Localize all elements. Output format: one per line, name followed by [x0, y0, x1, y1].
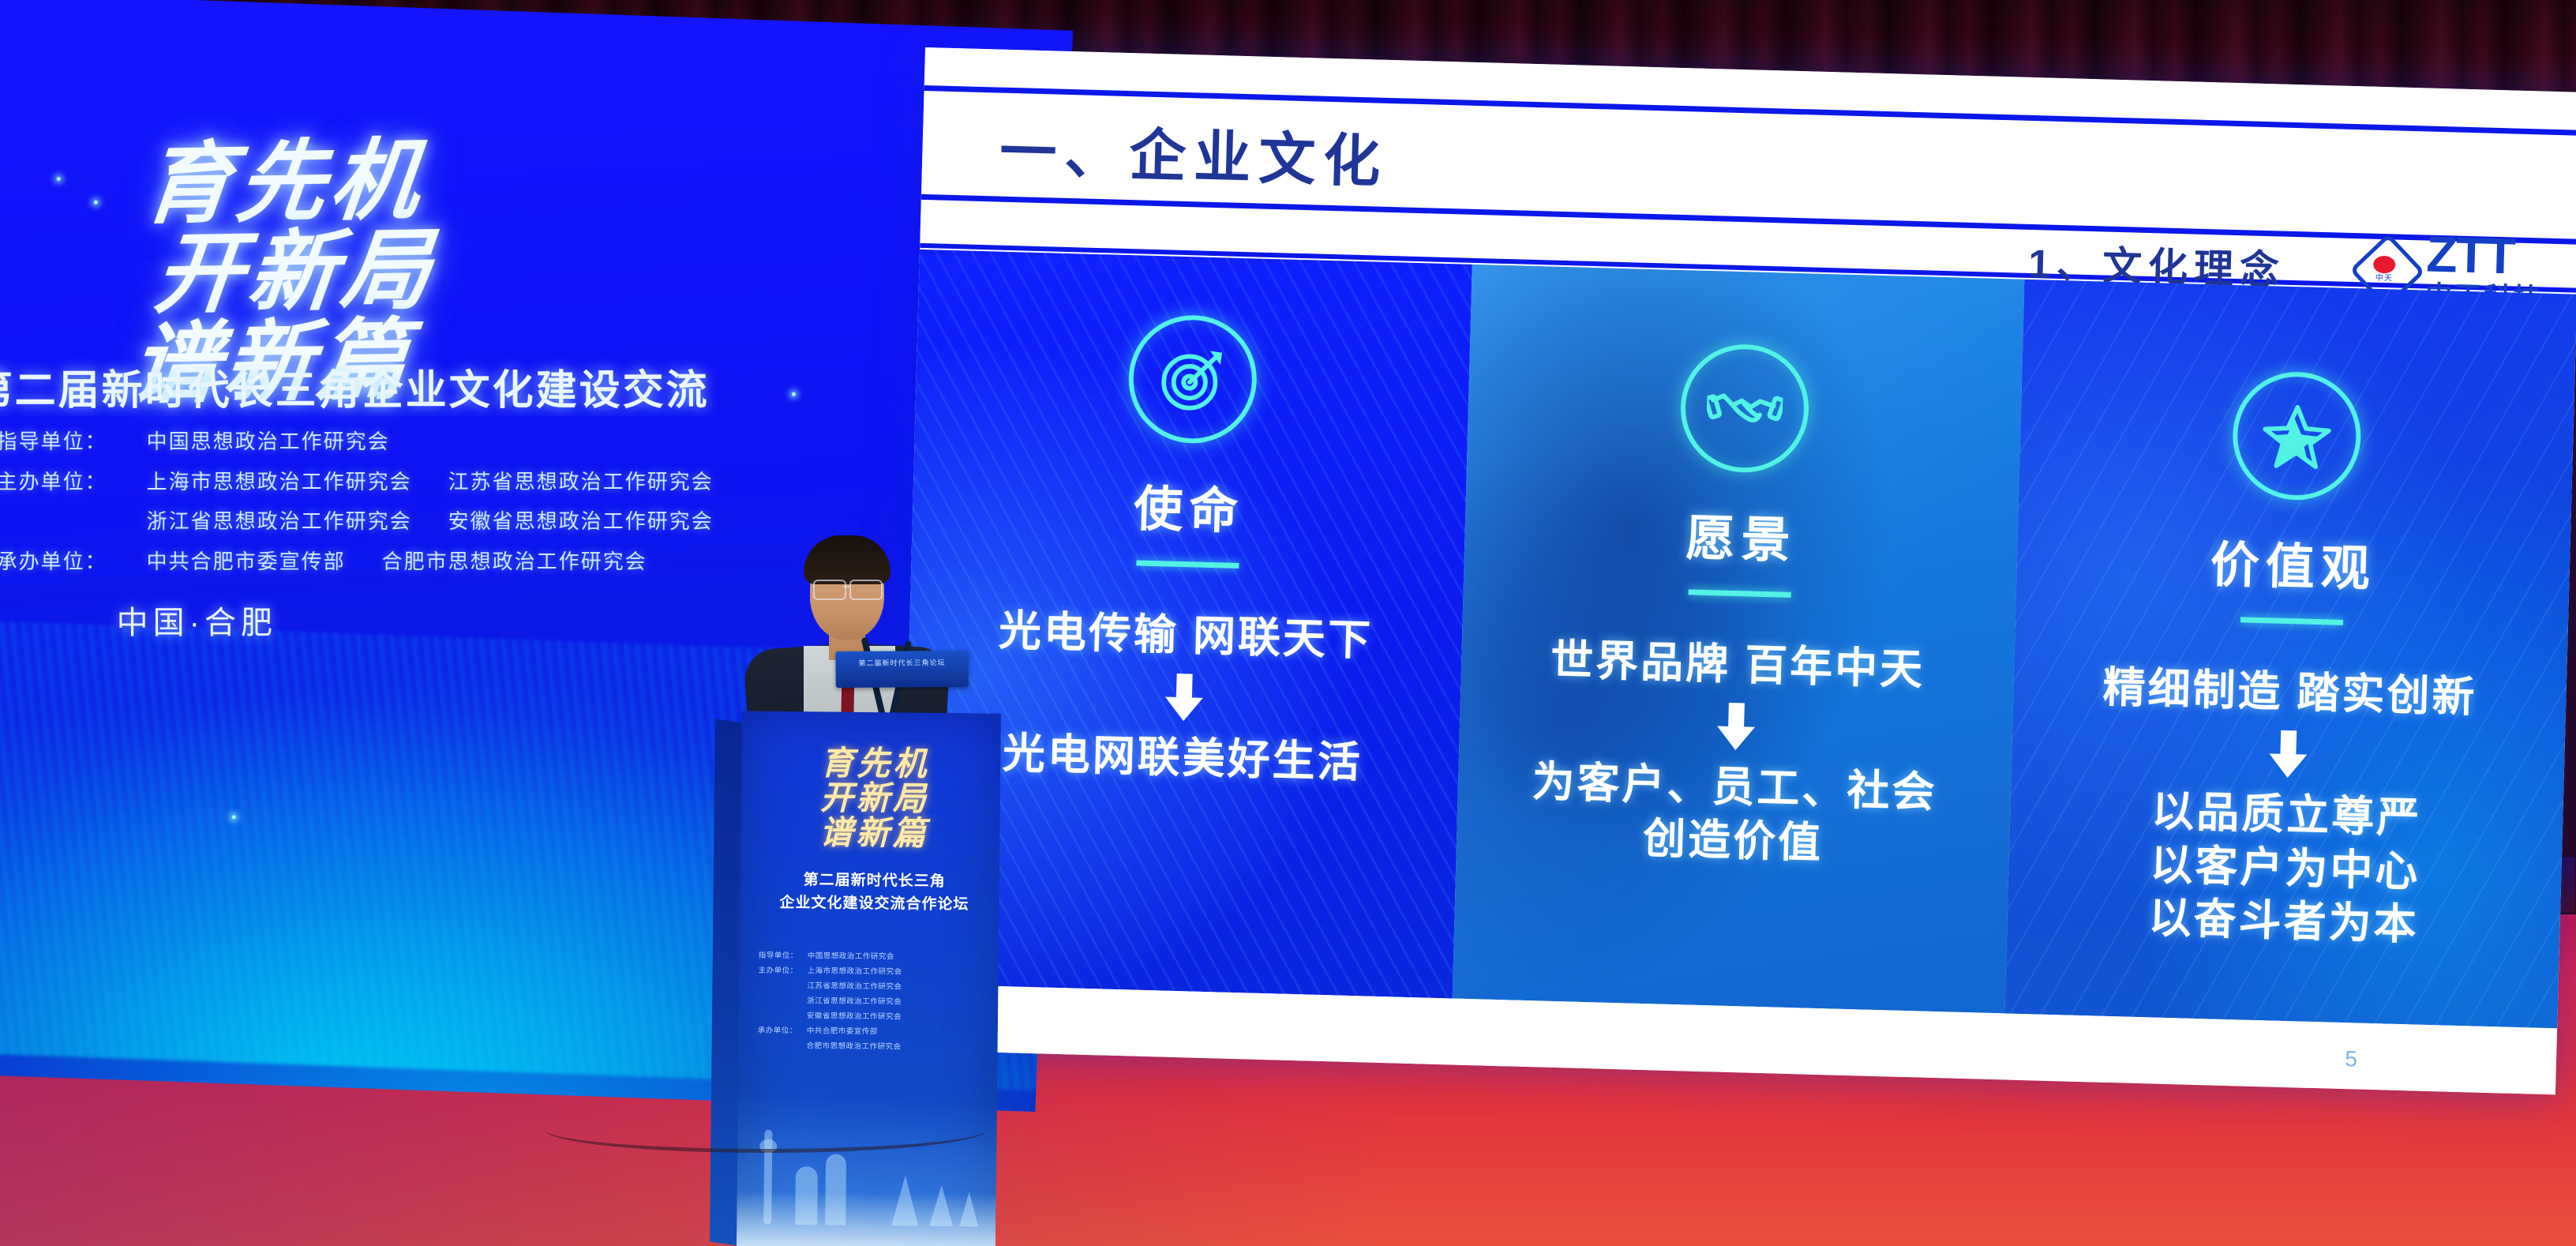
- organization-row: 承办单位： 中共合肥市委宣传部 合肥市思想政治工作研究会: [0, 542, 794, 582]
- slide-body: 使命 光电传输 网联天下 光电网联美好生活: [900, 250, 2576, 1028]
- column-title: 价值观: [2210, 524, 2377, 600]
- backdrop-forum-title: 第二届新时代长三角企业文化建设交流: [0, 357, 769, 416]
- column-slogan-primary: 世界品牌 百年中天: [1550, 625, 1925, 697]
- column-title: 使命: [1133, 468, 1245, 542]
- lectern-organization-label: [758, 978, 807, 994]
- lectern-calligraphy: 育先机 开新局 谱新篇: [775, 746, 973, 853]
- organization-label: 主办单位：: [0, 462, 147, 502]
- organization-label: 承办单位：: [0, 542, 147, 582]
- calligraphy-line-2: 开新局: [150, 224, 550, 321]
- lectern-organizations: 指导单位： 中国思想政治工作研究会 主办单位： 上海市思想政治工作研究会 江苏省…: [757, 948, 992, 1056]
- speaker-glasses-left-lens: [813, 580, 846, 600]
- column-slogan-secondary: 以品质立尊严以客户为中心以奋斗者为本: [2148, 785, 2422, 952]
- lectern-organization-label: [757, 1038, 806, 1054]
- organization-value: 江苏省思想政治工作研究会: [448, 462, 714, 502]
- lectern-nameplate-text: 第二届新时代长三角论坛: [835, 657, 968, 668]
- speaker-glasses-right-lens: [849, 580, 883, 600]
- arrow-down-icon: [2263, 730, 2315, 780]
- lectern-nameplate: 第二届新时代长三角论坛: [835, 651, 968, 688]
- lectern-organization-row: 合肥市思想政治工作研究会: [757, 1038, 991, 1056]
- organization-value: 合肥市思想政治工作研究会: [382, 542, 647, 582]
- lectern-organization-value: 中国思想政治工作研究会: [808, 948, 894, 964]
- presentation-slide: 一、企业文化 1、文化理念 中天 ZTT 中天科技: [898, 47, 2576, 1094]
- lectern-forum-title: 第二届新时代长三角 企业文化建设交流合作论坛: [756, 869, 993, 917]
- column-slogan-primary: 光电传输 网联天下: [998, 595, 1374, 668]
- organization-row: 浙江省思想政治工作研究会 安徽省思想政治工作研究会: [0, 501, 794, 542]
- organization-label: 指导单位：: [0, 422, 147, 462]
- lectern-calligraphy-line-1: 育先机: [776, 746, 973, 783]
- lectern-front-panel: 育先机 开新局 谱新篇 第二届新时代长三角 企业文化建设交流合作论坛 指导单位：…: [737, 711, 1001, 1246]
- lectern-organization-value: 安徽省思想政治工作研究会: [807, 1008, 902, 1024]
- organization-row: 主办单位： 上海市思想政治工作研究会 江苏省思想政治工作研究会: [0, 462, 794, 502]
- slide-section-heading: 一、企业文化: [999, 105, 1389, 198]
- arrow-down-icon: [1158, 673, 1210, 723]
- lectern-organization-label: 指导单位：: [759, 948, 808, 964]
- header-rule-middle: [921, 194, 2576, 245]
- speaker-glasses-bridge: [843, 586, 849, 587]
- organization-label: [0, 501, 147, 542]
- lectern-organization-value: 浙江省思想政治工作研究会: [807, 993, 902, 1009]
- lectern-organization-value: 中共合肥市委宣传部: [807, 1023, 878, 1039]
- organization-value: 上海市思想政治工作研究会: [147, 462, 412, 502]
- lectern-calligraphy-line-2: 开新局: [776, 781, 973, 818]
- organization-value: 中共合肥市委宣传部: [147, 542, 346, 582]
- arrow-down-icon: [1710, 702, 1762, 752]
- lectern-forum-line-1: 第二届新时代长三角: [756, 869, 993, 895]
- organization-value: 中国思想政治工作研究会: [147, 422, 390, 462]
- floor-cable: [545, 1106, 987, 1153]
- lectern-organization-label: 主办单位：: [758, 963, 807, 979]
- column-slogan-secondary: 光电网联美好生活: [1002, 727, 1363, 790]
- lectern-calligraphy-line-3: 谱新篇: [775, 816, 973, 853]
- lectern-organization-label: 承办单位：: [758, 1023, 807, 1039]
- organization-value: 安徽省思想政治工作研究会: [448, 501, 714, 542]
- lectern: 第二届新时代长三角论坛 育先机 开新局 谱新篇 第二届新时代长三角 企业: [710, 711, 1001, 1246]
- lectern-organization-label: [758, 993, 807, 1009]
- speaker-hair: [804, 535, 891, 584]
- organization-row: 指导单位： 中国思想政治工作研究会: [0, 422, 794, 462]
- backdrop-organizations: 指导单位： 中国思想政治工作研究会 主办单位： 上海市思想政治工作研究会 江苏省…: [0, 422, 794, 582]
- ztt-mark-label: 中天: [2371, 273, 2398, 285]
- backdrop-city-label: 中国·合肥: [117, 597, 277, 643]
- calligraphy-line-1: 育先机: [139, 134, 560, 231]
- culture-column-vision: 愿景 世界品牌 百年中天 为客户、员工、社会创造价值: [1453, 265, 2025, 1014]
- lectern-organization-label: [758, 1008, 807, 1024]
- slide-page-number: 5: [2345, 1046, 2357, 1071]
- lectern-organization-value: 合肥市思想政治工作研究会: [806, 1038, 901, 1054]
- lectern-organization-value: 江苏省思想政治工作研究会: [807, 978, 902, 994]
- lectern-organization-value: 上海市思想政治工作研究会: [807, 963, 902, 979]
- column-slogan-secondary: 为客户、员工、社会创造价值: [1530, 756, 1937, 873]
- column-slogan-primary: 精细制造 踏实创新: [2102, 652, 2478, 725]
- column-title: 愿景: [1685, 497, 1797, 572]
- organization-value: 浙江省思想政治工作研究会: [147, 501, 412, 542]
- culture-column-values: 价值观 精细制造 踏实创新 以品质立尊严以客户为中心以奋斗者为本: [2004, 280, 2576, 1029]
- conference-stage-photo: 育先机 开新局 谱新篇 第二届新时代长三角企业文化建设交流 指导单位： 中国思想…: [0, 0, 2576, 1246]
- lectern-forum-line-2: 企业文化建设交流合作论坛: [756, 891, 992, 917]
- ztt-logo-en: ZTT: [2426, 229, 2544, 283]
